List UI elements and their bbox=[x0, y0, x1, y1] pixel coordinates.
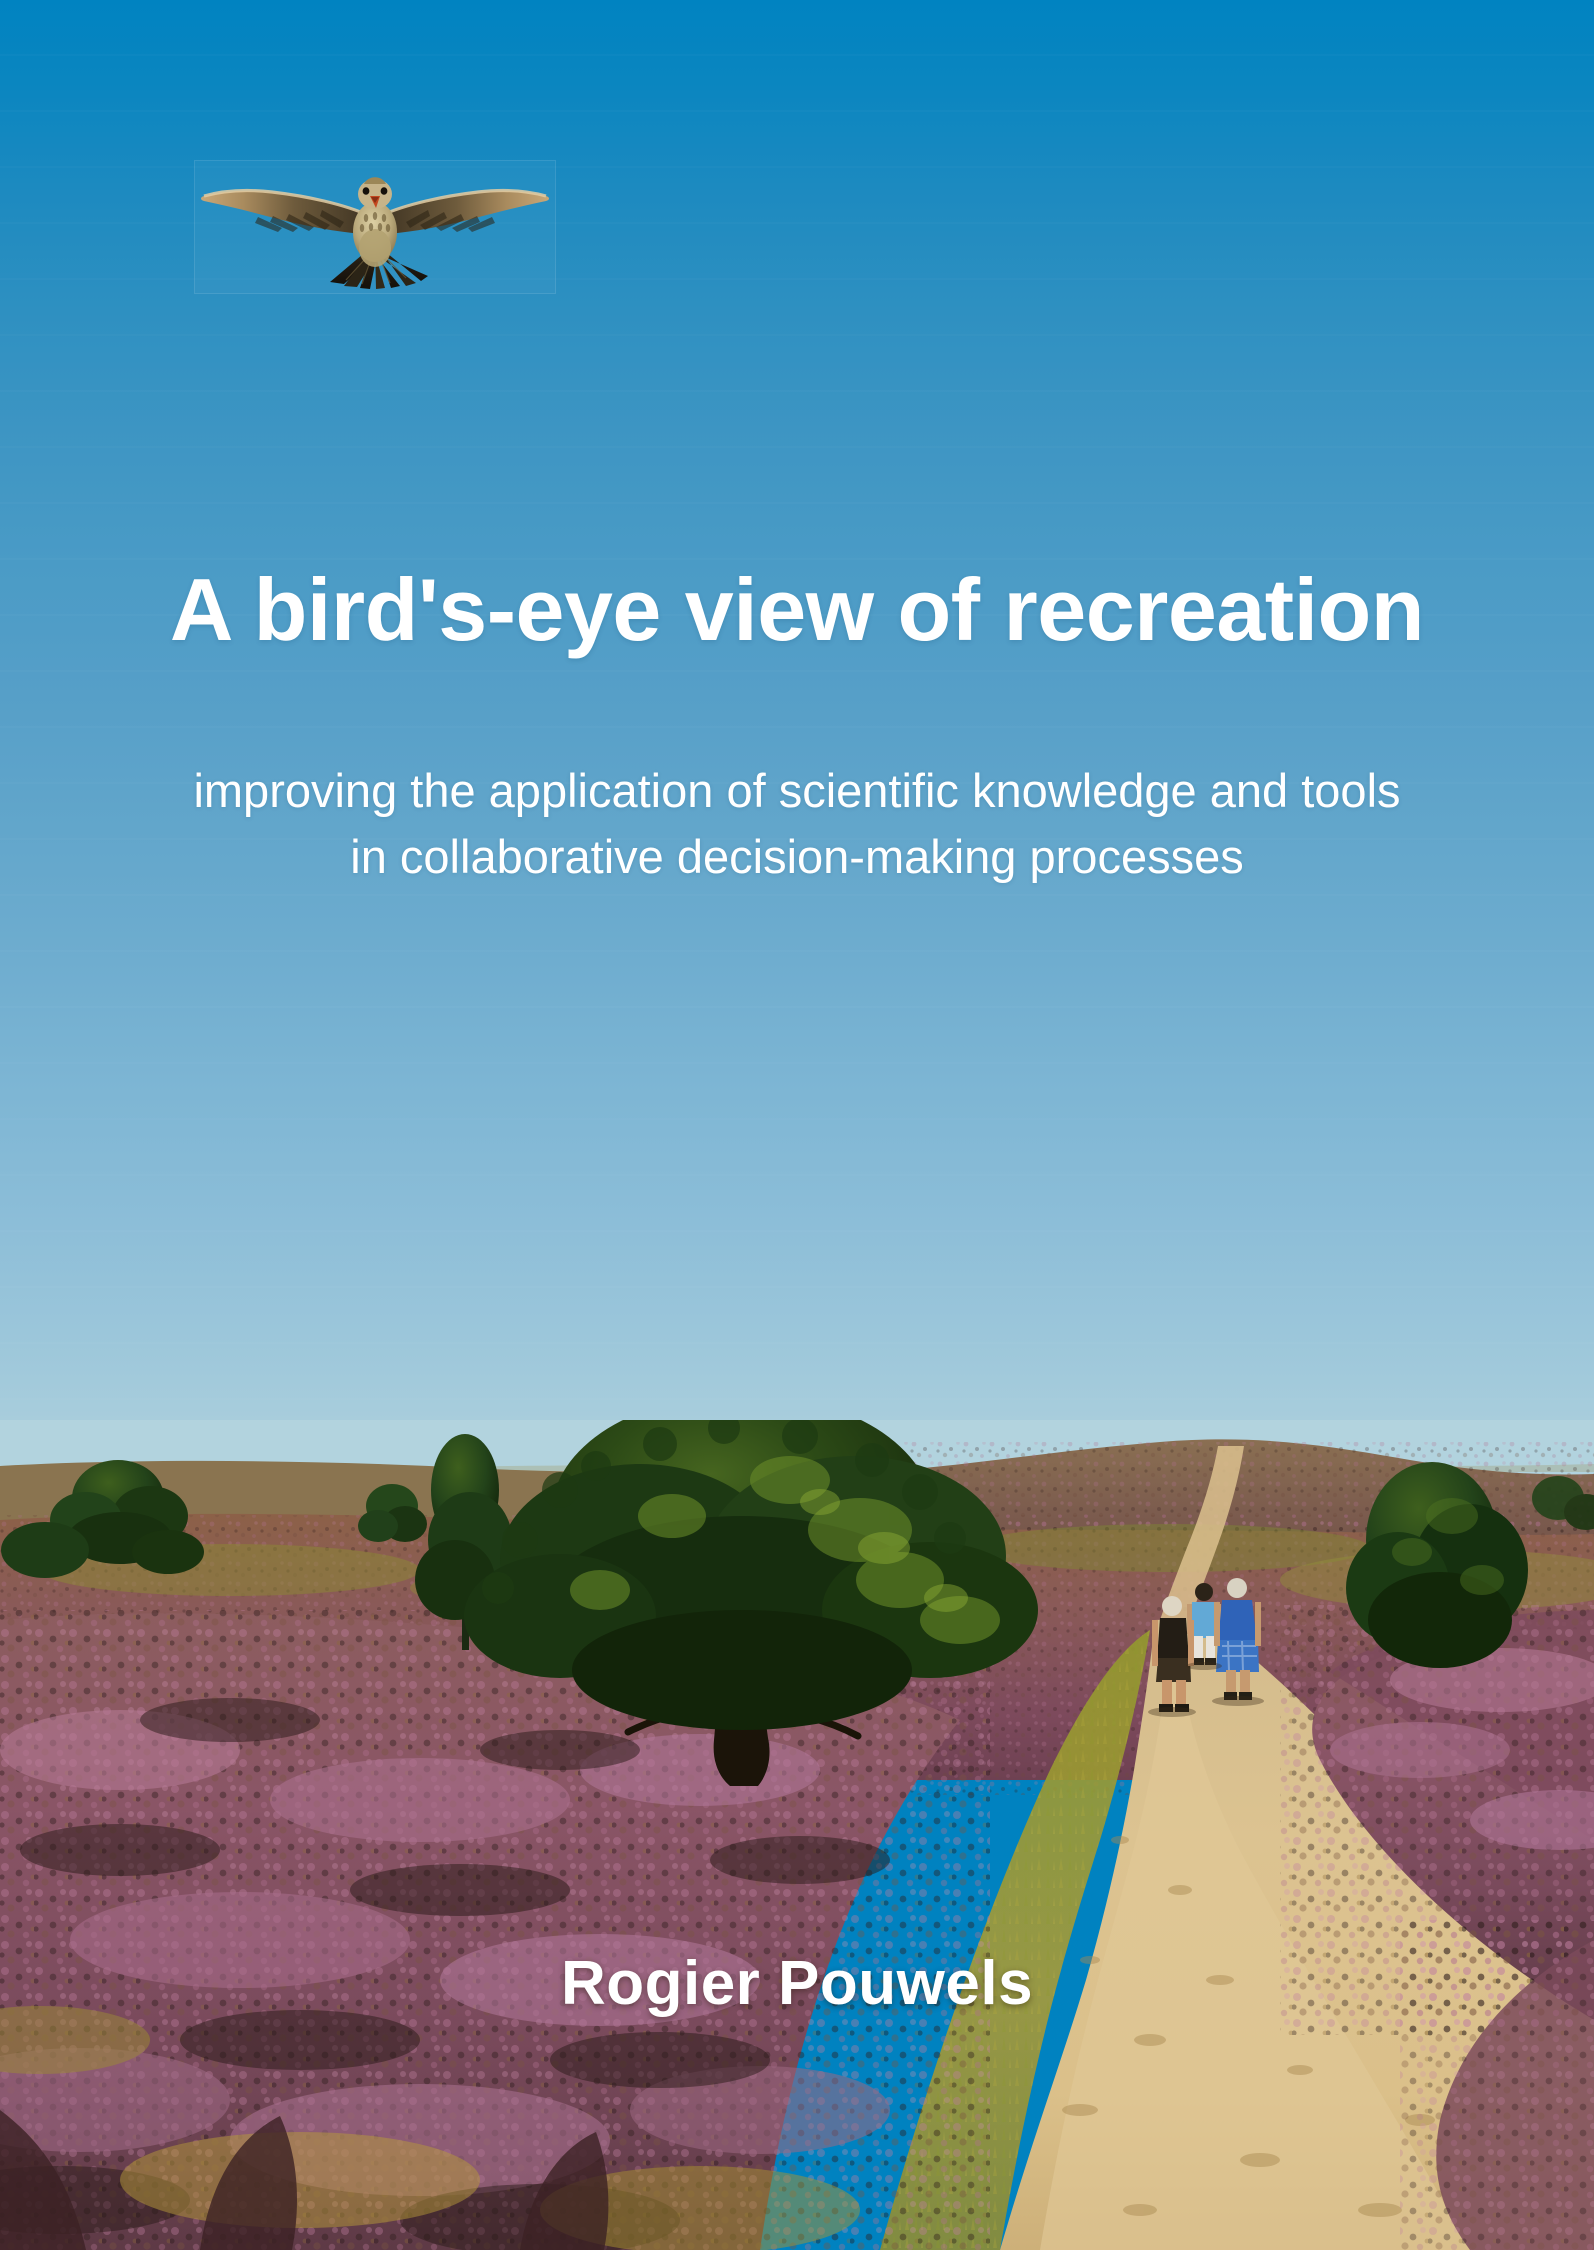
book-subtitle: improving the application of scientific … bbox=[0, 758, 1594, 890]
heathland-illustration bbox=[0, 1420, 1594, 2250]
skylark-icon bbox=[194, 160, 556, 294]
bird-inset-panel bbox=[194, 160, 556, 294]
author-name: Rogier Pouwels bbox=[0, 1948, 1594, 2019]
subtitle-line-1: improving the application of scientific … bbox=[0, 758, 1594, 824]
book-title: A bird's-eye view of recreation bbox=[0, 566, 1594, 654]
heathland-scene bbox=[0, 1420, 1594, 2250]
subtitle-line-2: in collaborative decision-making process… bbox=[0, 824, 1594, 890]
book-cover: A bird's-eye view of recreation improvin… bbox=[0, 0, 1594, 2250]
